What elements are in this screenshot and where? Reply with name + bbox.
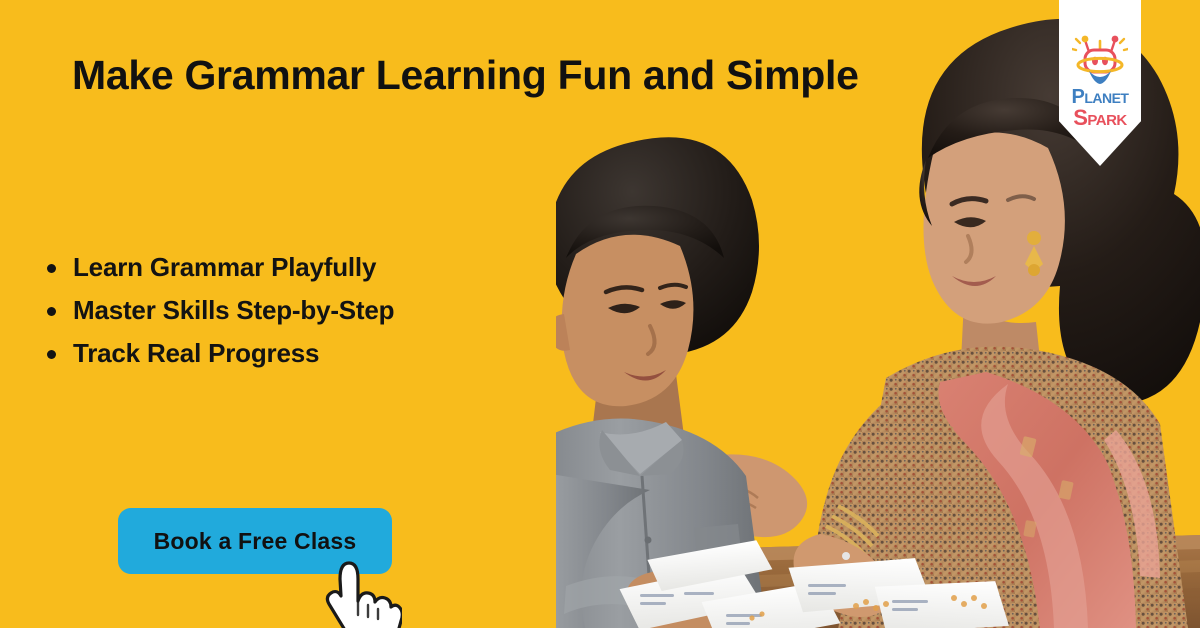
promotional-banner: Make Grammar Learning Fun and Simple Lea…	[0, 0, 1200, 628]
benefit-item: Master Skills Step-by-Step	[44, 297, 394, 323]
planetspark-logo[interactable]: Planet Spark	[1059, 0, 1141, 166]
headline: Make Grammar Learning Fun and Simple	[72, 52, 952, 99]
benefit-item: Learn Grammar Playfully	[44, 254, 394, 280]
planetspark-robot-mascot-icon	[1072, 33, 1128, 85]
benefits-list: Learn Grammar Playfully Master Skills St…	[44, 254, 394, 383]
book-free-class-button[interactable]: Book a Free Class	[118, 508, 392, 574]
cta-container: Book a Free Class	[118, 508, 418, 628]
logo-word-spark: Spark	[1059, 107, 1141, 128]
benefit-item: Track Real Progress	[44, 340, 394, 366]
logo-wordmark: Planet Spark	[1059, 88, 1141, 128]
